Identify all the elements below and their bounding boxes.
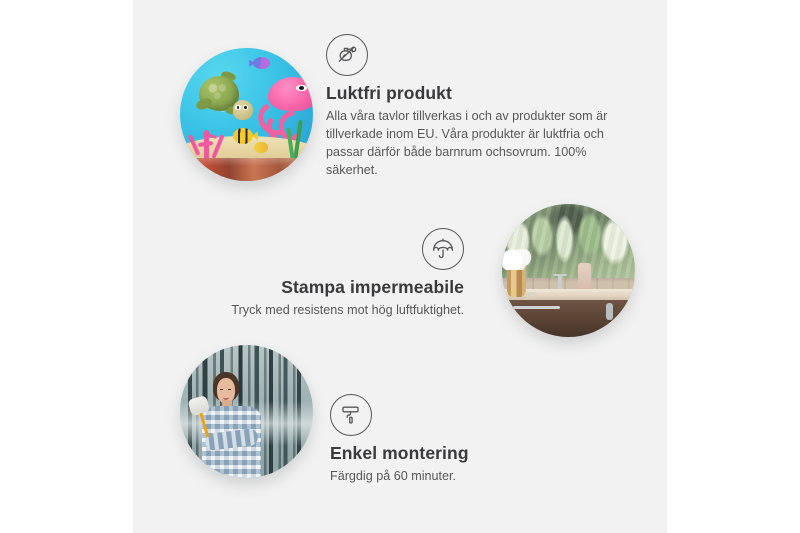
- octopus-body: [268, 77, 313, 111]
- octopus-eye: [296, 85, 307, 92]
- small-yellow-fish: [254, 142, 267, 153]
- product-image-woman-forest-mural[interactable]: [180, 345, 313, 478]
- underwater-artwork: [180, 48, 313, 181]
- feature-description: Tryck med resistens mot hög luftfuktighe…: [164, 301, 464, 319]
- rock-formation: [180, 158, 313, 181]
- faucet: [558, 274, 562, 290]
- forest-mural-photo: [180, 345, 313, 478]
- turtle-eye: [235, 105, 240, 110]
- feature-block-assembly: Enkel montering Färgdig på 60 minuter.: [330, 394, 590, 485]
- sea-turtle: [195, 75, 251, 123]
- turtle-fin: [195, 97, 213, 112]
- purple-fish: [253, 57, 270, 69]
- product-image-bathroom-botanical-wallpaper[interactable]: [502, 204, 635, 337]
- pink-octopus: [257, 77, 313, 136]
- feature-block-odorless: Luktfri produkt Alla våra tavlor tillver…: [326, 34, 630, 180]
- feature-description: Alla våra tavlor tillverkas i och av pro…: [326, 107, 630, 180]
- turtle-head: [233, 100, 253, 119]
- product-feature-infographic: Luktfri produkt Alla våra tavlor tillver…: [0, 0, 800, 533]
- feature-title: Enkel montering: [330, 443, 590, 464]
- feature-title: Stampa impermeabile: [164, 277, 464, 298]
- pink-coral: [188, 123, 233, 163]
- feature-title: Luktfri produkt: [326, 83, 630, 104]
- feature-block-waterproof: Stampa impermeabile Tryck med resistens …: [164, 228, 464, 319]
- turtle-eye: [243, 105, 248, 110]
- product-image-underwater-kids-scene[interactable]: [180, 48, 313, 181]
- feature-description: Färgdig på 60 minuter.: [330, 467, 590, 485]
- umbrella-icon: [422, 228, 464, 270]
- white-flowers: [502, 249, 534, 270]
- yellow-striped-fish: [233, 128, 253, 144]
- woman-with-paint-roller: [196, 372, 268, 478]
- no-odor-spray-bottle-icon: [326, 34, 368, 76]
- wood-vanity-cabinet: [502, 300, 635, 337]
- bathroom-photo: [502, 204, 635, 337]
- paint-roller-icon: [330, 394, 372, 436]
- roller-pad: [187, 395, 210, 416]
